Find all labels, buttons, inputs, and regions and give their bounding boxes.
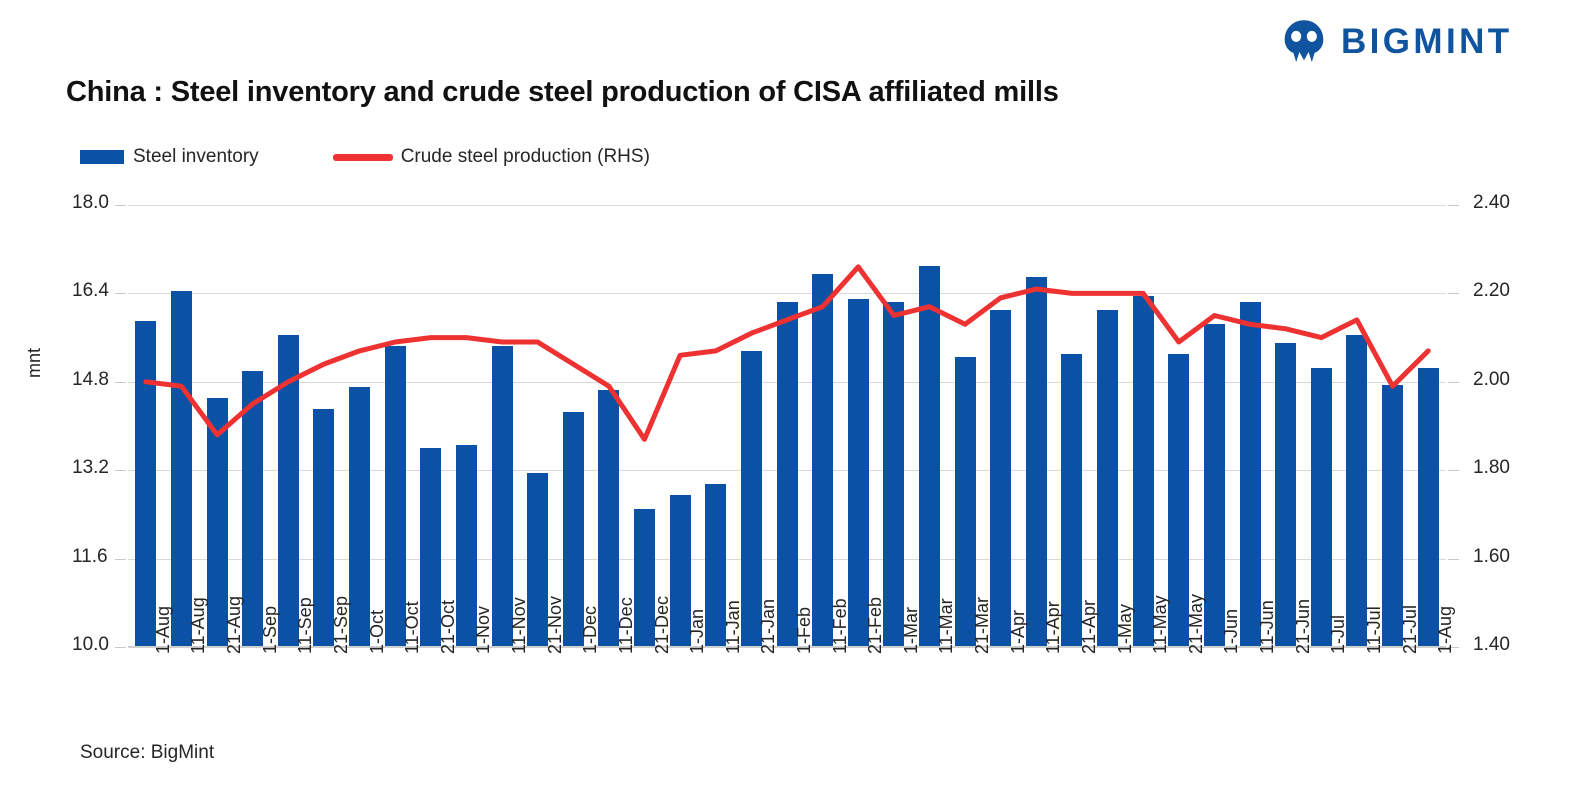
brand-wordmark: BIGMINT	[1341, 24, 1513, 59]
x-axis-tick-label: 21-Mar	[972, 597, 993, 654]
legend-line-swatch-icon	[333, 154, 393, 161]
y-axis-right-tick-label: 1.80	[1473, 457, 1510, 479]
axis-tick	[1448, 205, 1459, 206]
x-axis-tick-label: 1-Oct	[367, 610, 388, 654]
chart-legend: Steel inventory Crude steel production (…	[80, 146, 650, 168]
axis-tick	[1448, 293, 1459, 294]
legend-bar-swatch-icon	[80, 150, 124, 164]
y-axis-left-tick-label: 13.2	[72, 457, 109, 479]
x-axis-tick-label: 1-Jul	[1328, 615, 1349, 654]
brand-logo: BIGMINT	[1281, 18, 1513, 64]
source-note: Source: BigMint	[80, 742, 214, 764]
x-axis-tick-label: 1-Aug	[153, 606, 174, 654]
x-axis-tick-label: 11-Aug	[188, 597, 209, 654]
x-axis-tick-label: 11-Jan	[723, 600, 744, 654]
x-axis-tick-label: 11-Jul	[1364, 606, 1385, 654]
x-axis-tick-label: 21-Aug	[224, 596, 245, 654]
x-axis-tick-label: 11-Jun	[1257, 600, 1278, 654]
page-title: China : Steel inventory and crude steel …	[66, 76, 1059, 109]
y-axis-left-tick-label: 16.4	[72, 280, 109, 302]
x-axis-tick-label: 21-Jul	[1400, 605, 1421, 654]
x-axis-tick-label: 21-Oct	[438, 600, 459, 654]
x-axis-tick-label: 11-Dec	[616, 597, 637, 654]
y-axis-left-tick-label: 18.0	[72, 192, 109, 214]
x-axis-tick-label: 11-Mar	[936, 598, 957, 654]
y-axis-right-tick-label: 1.60	[1473, 546, 1510, 568]
axis-tick	[115, 205, 126, 206]
x-axis-tick-label: 21-Apr	[1079, 600, 1100, 654]
x-axis-tick-label: 1-Sep	[260, 606, 281, 654]
y-axis-right-tick-label: 1.40	[1473, 634, 1510, 656]
x-axis-tick-label: 11-Apr	[1043, 601, 1064, 654]
y-axis-left-tick-label: 10.0	[72, 634, 109, 656]
x-axis-tick-label: 21-Dec	[652, 596, 673, 654]
legend-item-crude-steel-production[interactable]: Crude steel production (RHS)	[333, 146, 650, 168]
plot-area	[128, 205, 1446, 647]
x-axis-tick-label: 1-Mar	[901, 607, 922, 654]
x-axis-tick-label: 1-Dec	[580, 606, 601, 654]
x-axis-tick-label: 1-Jan	[687, 609, 708, 654]
x-axis-tick-label: 21-Jan	[758, 599, 779, 654]
x-axis-tick-label: 21-Sep	[331, 596, 352, 654]
line-path	[146, 267, 1428, 439]
y-axis-right-tick-label: 2.00	[1473, 369, 1510, 391]
legend-item-steel-inventory[interactable]: Steel inventory	[80, 146, 259, 168]
x-axis-baseline	[128, 646, 1446, 648]
x-axis-tick-label: 11-Feb	[830, 598, 851, 654]
legend-label-steel-inventory: Steel inventory	[133, 146, 259, 168]
x-axis-tick-label: 21-May	[1186, 594, 1207, 654]
axis-tick	[1448, 559, 1459, 560]
x-axis-tick-label: 21-Jun	[1293, 599, 1314, 654]
y-axis-left-tick-label: 14.8	[72, 369, 109, 391]
x-axis-tick-label: 21-Nov	[545, 596, 566, 654]
x-axis-tick-label: 11-Nov	[509, 597, 530, 654]
axis-tick	[1448, 470, 1459, 471]
x-axis-tick-label: 1-Jun	[1221, 609, 1242, 654]
axis-tick	[1448, 382, 1459, 383]
x-axis-tick-label: 11-Sep	[295, 597, 316, 654]
x-axis-tick-label: 1-Aug	[1435, 606, 1456, 654]
y-axis-right-tick-label: 2.40	[1473, 192, 1510, 214]
axis-tick	[115, 647, 126, 648]
line-series-crude-steel-production	[128, 205, 1446, 647]
y-axis-left-tick-label: 11.6	[72, 546, 108, 568]
legend-label-crude-steel-production: Crude steel production (RHS)	[401, 146, 650, 168]
axis-tick	[115, 382, 126, 383]
x-axis-tick-label: 1-May	[1115, 604, 1136, 654]
x-axis-tick-label: 21-Feb	[865, 597, 886, 654]
bigmint-mascot-icon	[1281, 18, 1327, 64]
x-axis-tick-label: 1-Feb	[794, 607, 815, 654]
axis-tick	[115, 293, 126, 294]
x-axis-tick-label: 1-Nov	[473, 606, 494, 654]
axis-tick	[115, 559, 126, 560]
x-axis-tick-label: 11-Oct	[402, 601, 423, 654]
axis-tick	[115, 470, 126, 471]
x-axis-tick-label: 1-Apr	[1008, 610, 1029, 654]
y-axis-title: mnt	[24, 348, 45, 378]
x-axis-tick-label: 11-May	[1150, 595, 1171, 654]
y-axis-right-tick-label: 2.20	[1473, 280, 1510, 302]
